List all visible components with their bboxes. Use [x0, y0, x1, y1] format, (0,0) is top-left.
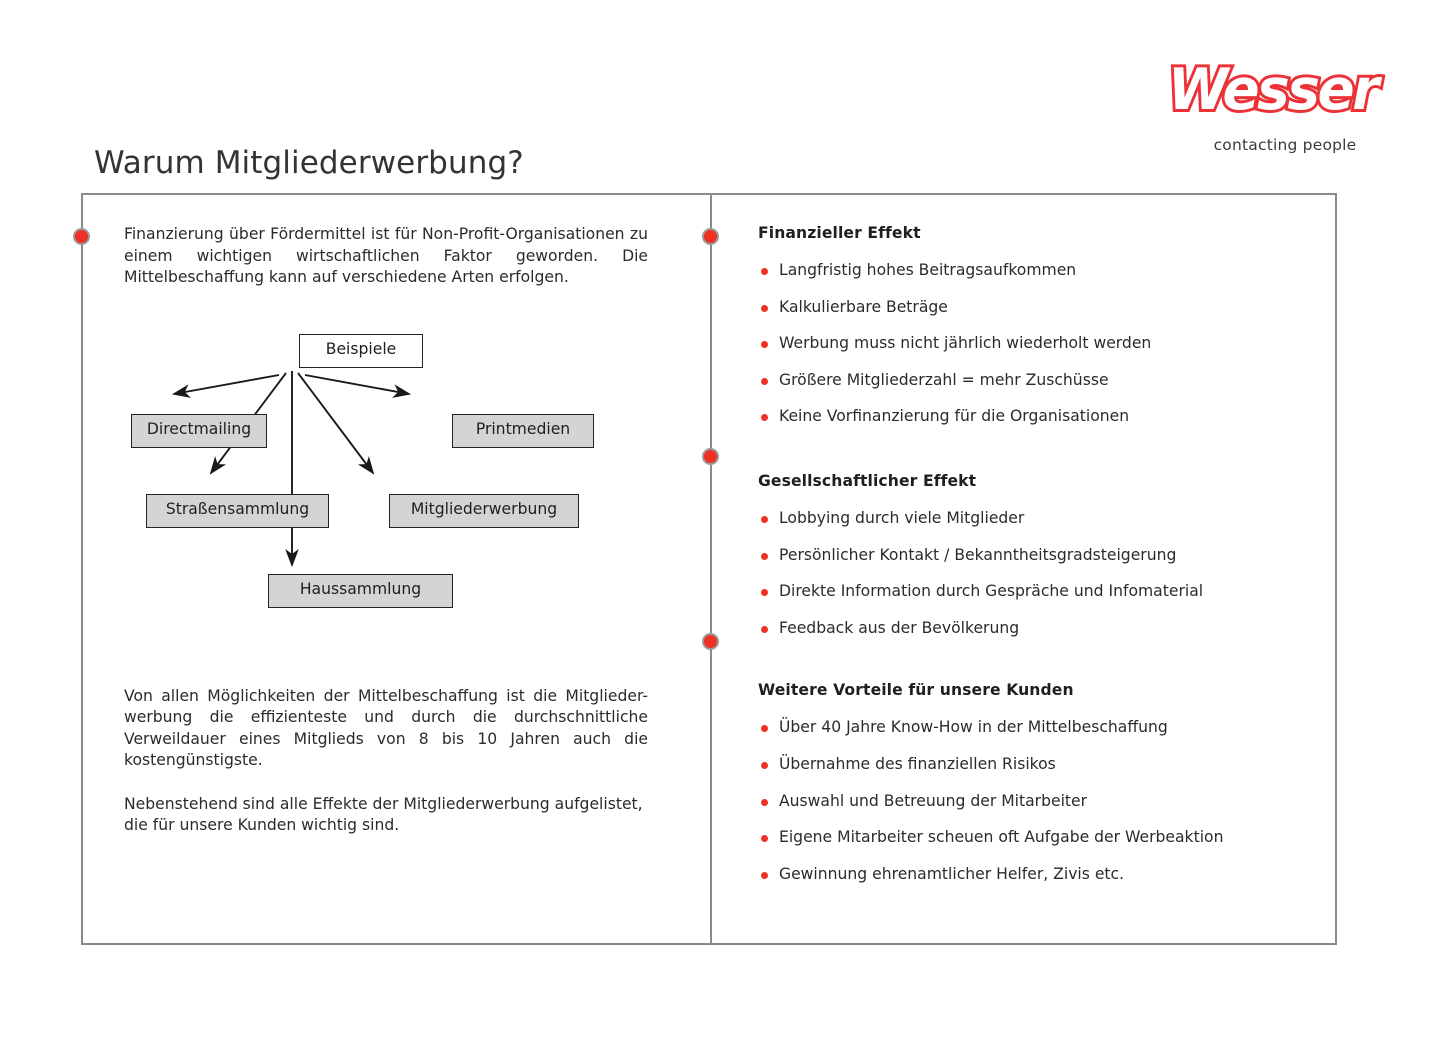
- list-item-label: Über 40 Jahre Know-How in der Mittelbesc…: [779, 718, 1168, 736]
- intro-paragraph: Finanzierung über Fördermittel ist für N…: [124, 224, 648, 289]
- wesser-logo: Wesser contacting people: [1168, 62, 1368, 162]
- diagram-node-haussammlung: Haussammlung: [268, 574, 453, 608]
- bullet-icon: [761, 725, 768, 732]
- section-heading: Finanzieller Effekt: [758, 224, 1318, 242]
- list-item: Größere Mitgliederzahl = mehr Zuschüsse: [758, 373, 1318, 389]
- list-item: Gewinnung ehrenamtlicher Helfer, Zivis e…: [758, 867, 1318, 883]
- list-item-label: Langfristig hohes Beitragsaufkommen: [779, 261, 1076, 279]
- list-item: Über 40 Jahre Know-How in der Mittelbesc…: [758, 720, 1318, 736]
- list-item-label: Werbung muss nicht jährlich wiederholt w…: [779, 334, 1151, 352]
- list-item-label: Eigene Mitarbeiter scheuen oft Aufgabe d…: [779, 828, 1223, 846]
- list-item: Langfristig hohes Beitragsaufkommen: [758, 263, 1318, 279]
- section-weitere-vorteile: Weitere Vorteile für unsere Kunden Über …: [758, 681, 1318, 882]
- diagram-node-beispiele: Beispiele: [299, 334, 423, 368]
- diagram-node-mitgliederwerbung: Mitgliederwerbung: [389, 494, 579, 528]
- reference-paragraph: Nebenstehend sind alle Effekte der Mitgl…: [124, 794, 648, 837]
- list-item-label: Kalkulierbare Beträge: [779, 298, 948, 316]
- left-column: Finanzierung über Fördermittel ist für N…: [124, 224, 648, 289]
- summary-paragraph: Von allen Möglichkeiten der Mittelbescha…: [124, 686, 648, 772]
- section-finanzieller-effekt: Finanzieller Effekt Langfristig hohes Be…: [758, 224, 1318, 425]
- list-item-label: Übernahme des finanziellen Risikos: [779, 755, 1056, 773]
- section-heading: Weitere Vorteile für unsere Kunden: [758, 681, 1318, 699]
- list-item: Übernahme des finanziellen Risikos: [758, 757, 1318, 773]
- list-item: Keine Vorfinanzierung für die Organisati…: [758, 409, 1318, 425]
- list-item-label: Auswahl und Betreuung der Mitarbeiter: [779, 792, 1087, 810]
- bullet-icon: [761, 626, 768, 633]
- bullet-icon: [761, 305, 768, 312]
- list-item-label: Lobbying durch viele Mitglieder: [779, 509, 1024, 527]
- diagram-node-directmailing: Directmailing: [131, 414, 267, 448]
- list-item: Direkte Information durch Gespräche und …: [758, 584, 1318, 600]
- bullet-icon: [761, 414, 768, 421]
- page-title: Warum Mitgliederwerbung?: [94, 145, 524, 181]
- bullet-list: Über 40 Jahre Know-How in der Mittelbesc…: [758, 720, 1318, 882]
- list-item-label: Keine Vorfinanzierung für die Organisati…: [779, 407, 1129, 425]
- logo-wordmark: Wesser: [1168, 62, 1360, 119]
- list-item: Eigene Mitarbeiter scheuen oft Aufgabe d…: [758, 830, 1318, 846]
- logo-tagline: contacting people: [1202, 136, 1368, 154]
- lower-paragraphs: Von allen Möglichkeiten der Mittelbescha…: [124, 670, 648, 852]
- bullet-icon: [761, 553, 768, 560]
- list-item-label: Persönlicher Kontakt / Bekanntheitsgrads…: [779, 546, 1176, 564]
- bullet-icon: [761, 516, 768, 523]
- list-item: Lobbying durch viele Mitglieder: [758, 511, 1318, 527]
- section-gesellschaftlicher-effekt: Gesellschaftlicher Effekt Lobbying durch…: [758, 472, 1318, 636]
- bullet-list: Lobbying durch viele Mitglieder Persönli…: [758, 511, 1318, 636]
- node-dot-finanzieller-effekt: [702, 228, 719, 245]
- list-item-label: Direkte Information durch Gespräche und …: [779, 582, 1203, 600]
- list-item-label: Größere Mitgliederzahl = mehr Zuschüsse: [779, 371, 1109, 389]
- bullet-icon: [761, 589, 768, 596]
- bullet-icon: [761, 341, 768, 348]
- list-item: Kalkulierbare Beträge: [758, 300, 1318, 316]
- node-dot-weitere-vorteile: [702, 633, 719, 650]
- bullet-list: Langfristig hohes Beitragsaufkommen Kalk…: [758, 263, 1318, 425]
- list-item: Auswahl und Betreuung der Mitarbeiter: [758, 794, 1318, 810]
- bullet-icon: [761, 872, 768, 879]
- node-dot-gesellschaftlicher-effekt: [702, 448, 719, 465]
- diagram-node-printmedien: Printmedien: [452, 414, 594, 448]
- list-item-label: Gewinnung ehrenamtlicher Helfer, Zivis e…: [779, 865, 1124, 883]
- node-dot-left-column: [73, 228, 90, 245]
- bullet-icon: [761, 378, 768, 385]
- bullet-icon: [761, 835, 768, 842]
- bullet-icon: [761, 762, 768, 769]
- column-divider: [710, 193, 712, 945]
- bullet-icon: [761, 799, 768, 806]
- diagram-node-strassensammlung: Straßensammlung: [146, 494, 329, 528]
- list-item-label: Feedback aus der Bevölkerung: [779, 619, 1019, 637]
- list-item: Feedback aus der Bevölkerung: [758, 621, 1318, 637]
- right-column: Finanzieller Effekt Langfristig hohes Be…: [758, 224, 1318, 882]
- section-heading: Gesellschaftlicher Effekt: [758, 472, 1318, 490]
- list-item: Persönlicher Kontakt / Bekanntheitsgrads…: [758, 548, 1318, 564]
- list-item: Werbung muss nicht jährlich wiederholt w…: [758, 336, 1318, 352]
- bullet-icon: [761, 268, 768, 275]
